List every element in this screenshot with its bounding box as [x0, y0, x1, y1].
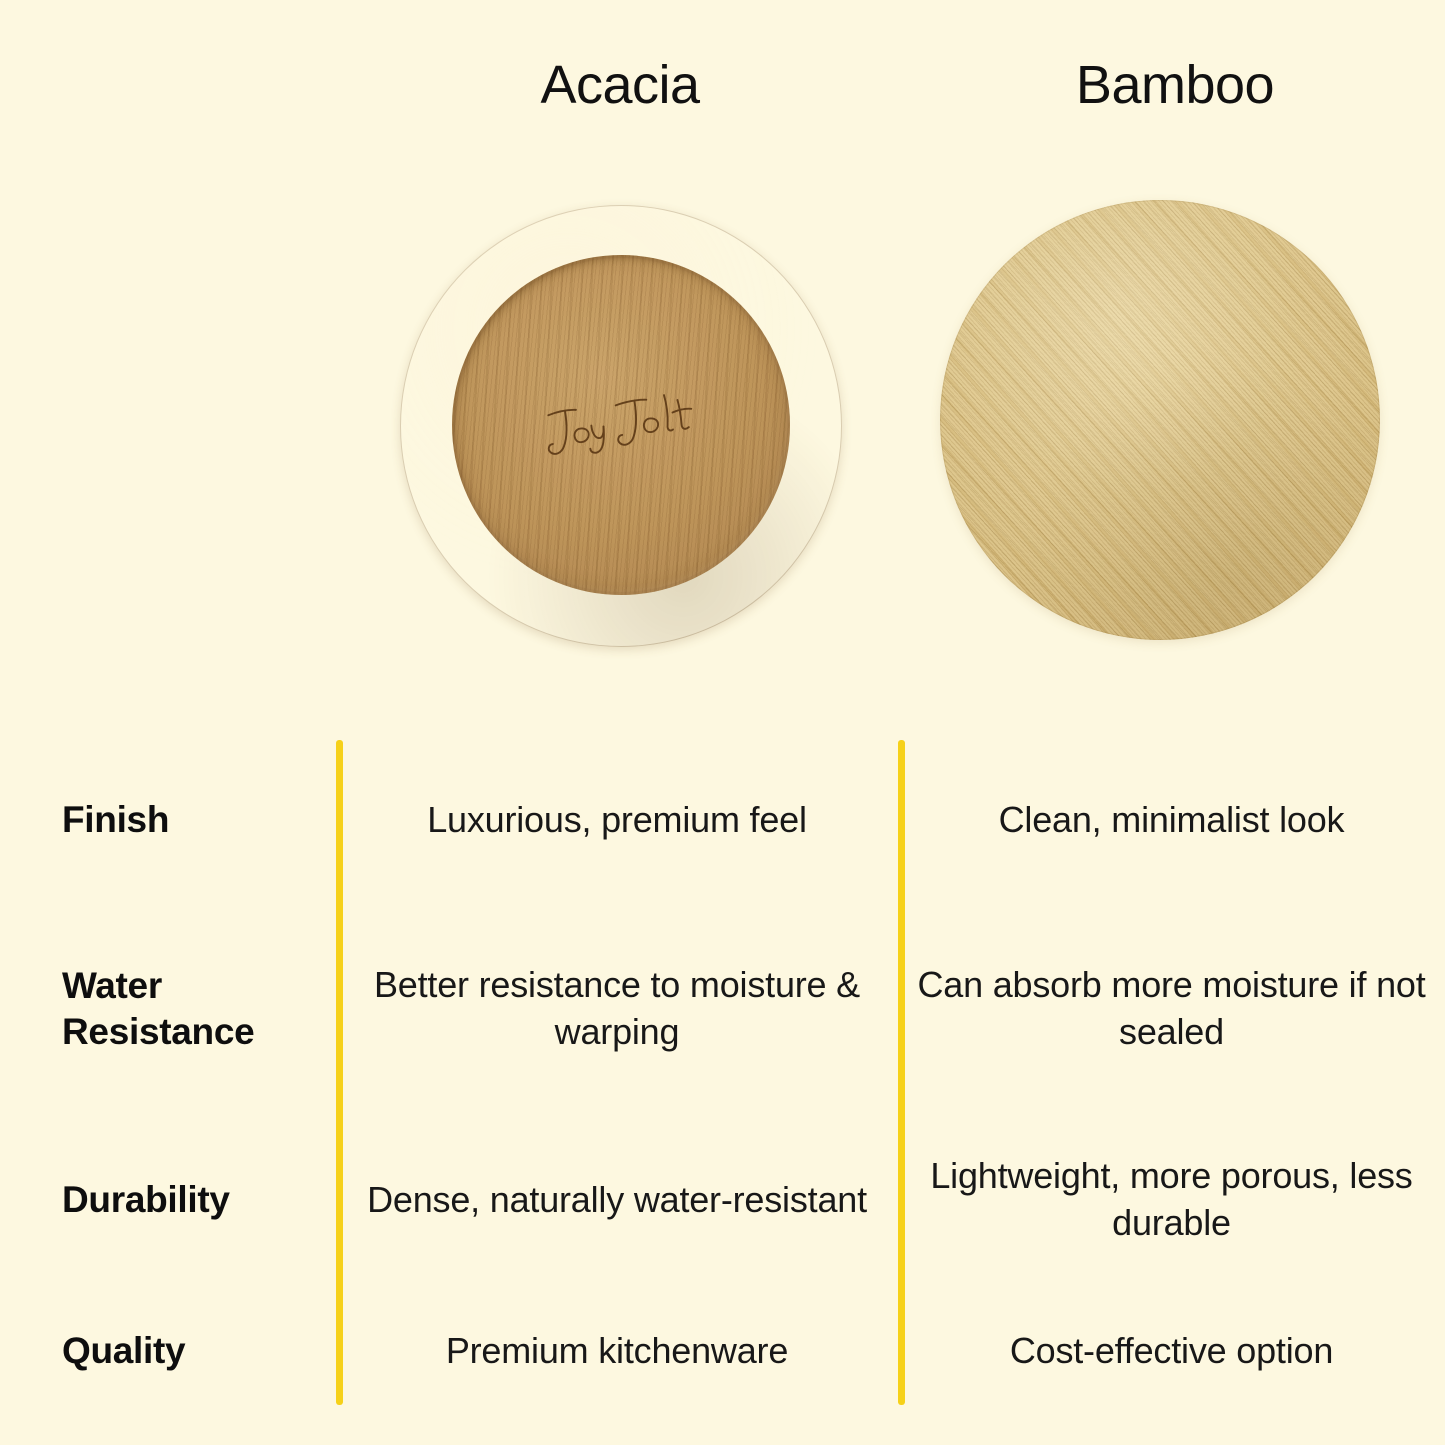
- cell-acacia-durability: Dense, naturally water-resistant: [336, 1177, 898, 1224]
- product-image-area: [0, 0, 1445, 700]
- row-label-water-resistance: Water Resistance: [0, 963, 336, 1053]
- table-row: Water Resistance Better resistance to mo…: [0, 916, 1445, 1101]
- cell-bamboo-finish: Clean, minimalist look: [898, 797, 1445, 844]
- table-row: Finish Luxurious, premium feel Clean, mi…: [0, 740, 1445, 900]
- table-row: Durability Dense, naturally water-resist…: [0, 1116, 1445, 1284]
- cell-bamboo-durability: Lightweight, more porous, less durable: [898, 1153, 1445, 1247]
- table-row: Quality Premium kitchenware Cost-effecti…: [0, 1296, 1445, 1406]
- row-label-water-resistance-line1: Water: [62, 963, 322, 1008]
- cell-acacia-quality: Premium kitchenware: [336, 1328, 898, 1375]
- cell-acacia-finish: Luxurious, premium feel: [336, 797, 898, 844]
- row-label-finish: Finish: [0, 797, 336, 842]
- cell-bamboo-quality: Cost-effective option: [898, 1328, 1445, 1375]
- cell-bamboo-water-resistance: Can absorb more moisture if not sealed: [898, 962, 1445, 1056]
- acacia-plate-well: [452, 255, 790, 595]
- row-label-water-resistance-line2: Resistance: [62, 1009, 322, 1054]
- comparison-table: Finish Luxurious, premium feel Clean, mi…: [0, 716, 1445, 1445]
- bamboo-wood-plate-icon: [940, 200, 1380, 640]
- cell-acacia-water-resistance: Better resistance to moisture & warping: [336, 962, 898, 1056]
- row-label-durability: Durability: [0, 1177, 336, 1222]
- acacia-wood-plate-icon: [400, 205, 842, 647]
- row-label-quality: Quality: [0, 1328, 336, 1373]
